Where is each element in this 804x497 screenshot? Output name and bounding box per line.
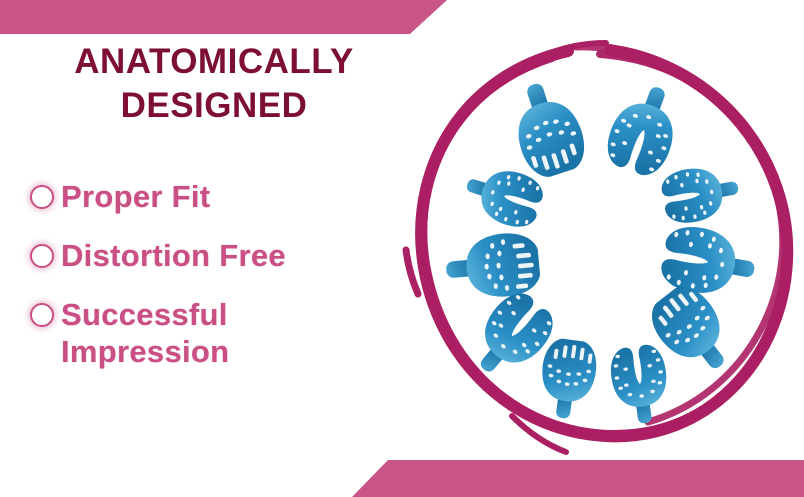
feature-label-3: Successful Impression [61,296,291,370]
tray-lower-u-shape [600,77,688,181]
feature-label-1: Proper Fit [61,178,210,215]
tray-left-full-arch [444,231,542,302]
list-item: Proper Fit [30,178,420,215]
tray-ring [444,75,760,427]
text-column: ANATOMICALLY DESIGNED Proper Fit Distort… [0,40,420,460]
circle-outline-bullet-icon [30,303,54,327]
top-pink-banner [0,0,447,34]
circle-outline-bullet-icon [30,244,54,268]
dental-trays-illustration [400,18,804,468]
tray-side-right-upper [659,161,743,227]
feature-label-2: Distortion Free [61,237,286,274]
headline-line-2: DESIGNED [0,84,420,128]
list-item: Successful Impression [30,296,420,370]
headline-line-1: ANATOMICALLY [0,40,420,84]
page-title: ANATOMICALLY DESIGNED [0,40,420,128]
poster-root: ANATOMICALLY DESIGNED Proper Fit Distort… [0,0,804,497]
artwork-panel [400,18,804,468]
tray-upper-full-arch [503,75,592,183]
list-item: Distortion Free [30,237,420,274]
feature-list: Proper Fit Distortion Free Successful Im… [30,178,420,392]
circle-outline-bullet-icon [30,185,54,209]
tray-bottom-left-full [536,336,600,421]
